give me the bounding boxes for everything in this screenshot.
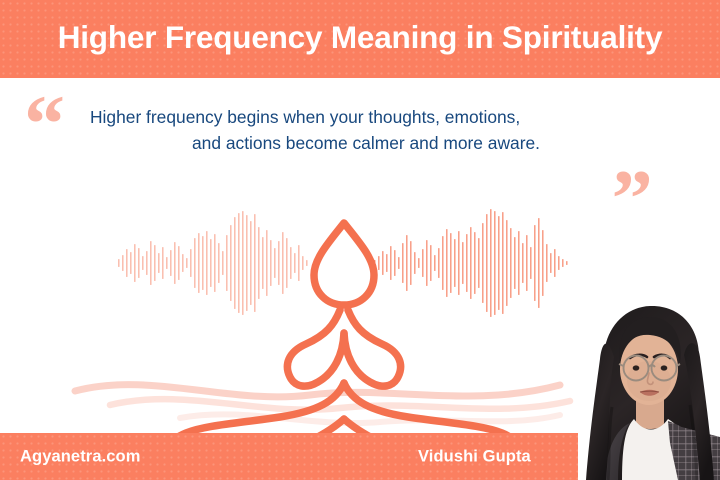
poster-canvas: Higher Frequency Meaning in Spirituality… — [0, 0, 720, 480]
page-title: Higher Frequency Meaning in Spirituality — [58, 22, 663, 56]
soundwave-left-icon — [118, 211, 308, 315]
quote-line-2: and actions become calmer and more aware… — [86, 130, 646, 156]
quote-block: “ Higher frequency begins when your thou… — [0, 78, 720, 208]
soundwave-right-icon — [374, 209, 568, 317]
author-portrait — [578, 297, 720, 480]
header-bar: Higher Frequency Meaning in Spirituality — [0, 0, 720, 78]
site-name: Agyanetra.com — [20, 447, 141, 466]
quote-line-1: Higher frequency begins when your though… — [86, 104, 646, 130]
opening-quote-icon: “ — [24, 83, 65, 165]
author-name: Vidushi Gupta — [418, 447, 531, 466]
closing-quote-icon: “ — [612, 128, 653, 210]
quote-text: Higher frequency begins when your though… — [86, 104, 646, 156]
